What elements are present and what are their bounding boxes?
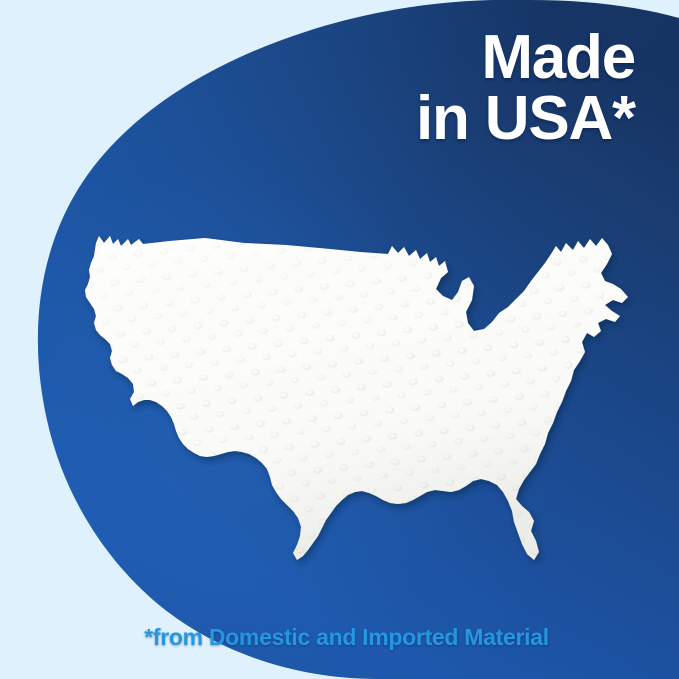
footnote-text: *from Domestic and Imported Material (0, 624, 679, 651)
made-in-usa-banner: Made in USA* *from Domestic and Imported… (0, 0, 679, 679)
us-map-shape (85, 236, 628, 560)
united-states-map (0, 0, 679, 679)
